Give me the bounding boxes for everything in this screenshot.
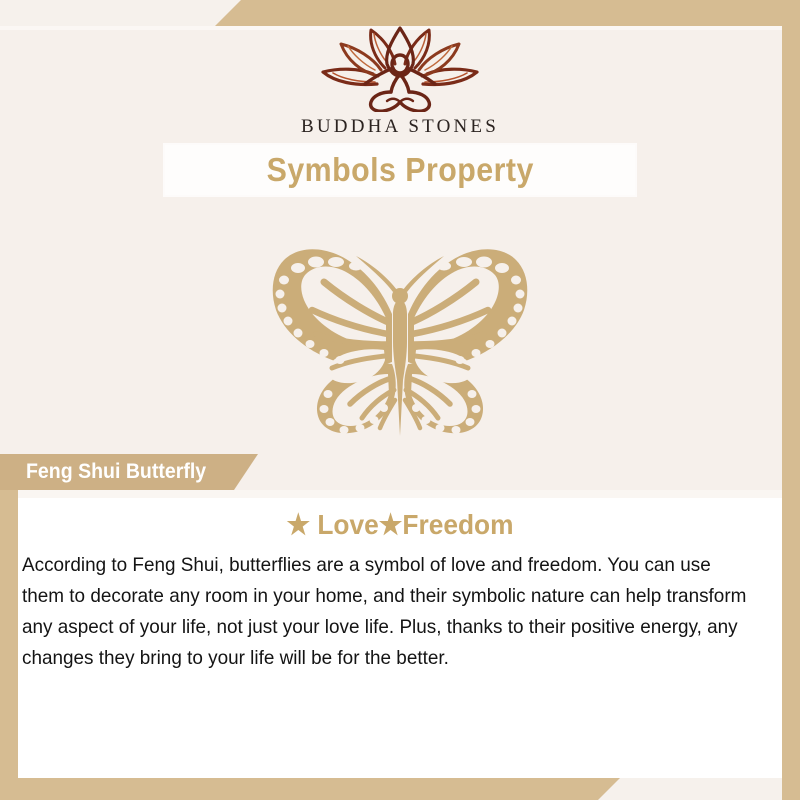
- poster-root: BUDDHA STONES Symbols Property: [0, 0, 800, 800]
- hero-image: [0, 222, 800, 452]
- content-panel-top-edge: [18, 490, 782, 498]
- category-tag-label: Feng Shui Butterfly: [26, 460, 206, 484]
- lotus-meditation-icon: [315, 24, 485, 112]
- brand-name: BUDDHA STONES: [301, 116, 499, 138]
- category-tag: Feng Shui Butterfly: [0, 454, 258, 490]
- brand-logo: BUDDHA STONES: [0, 24, 800, 138]
- butterfly-icon: [220, 222, 580, 452]
- content-paragraph: According to Feng Shui, butterflies are …: [22, 550, 757, 674]
- gold-bottom-band: [0, 778, 620, 800]
- title-band-text-layer: Symbols Property: [163, 143, 637, 197]
- gold-left-band: [0, 455, 18, 800]
- gold-top-band: [215, 0, 800, 26]
- page-title: Symbols Property: [266, 151, 533, 189]
- content-subheading: ★ Love★Freedom: [41, 508, 759, 541]
